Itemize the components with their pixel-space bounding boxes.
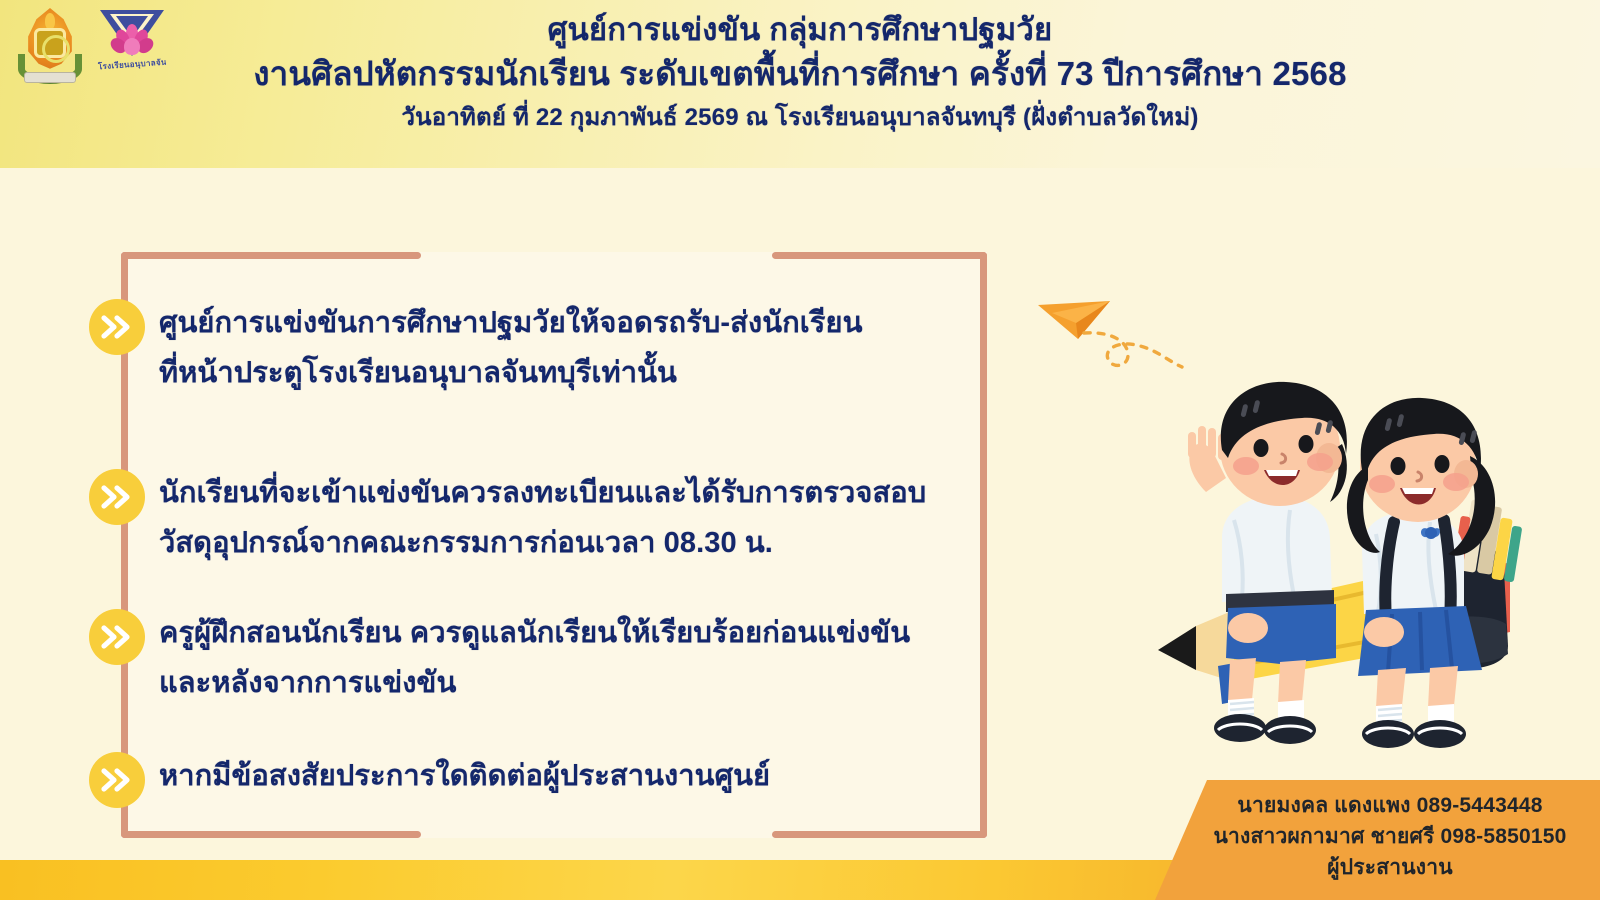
list-item: หากมีข้อสงสัยประการใดติดต่อผู้ประสานงานศ…: [89, 750, 969, 808]
page-title-line-2: งานศิลปหัตกรรมนักเรียน ระดับเขตพื้นที่กา…: [0, 50, 1600, 98]
list-item: นักเรียนที่จะเข้าแข่งขันควรลงทะเบียนและไ…: [89, 467, 969, 568]
paper-airplane-icon: [1032, 283, 1202, 383]
page-title-line-3: วันอาทิตย์ ที่ 22 กุมภาพันธ์ 2569 ณ โรงเ…: [0, 98, 1600, 138]
list-item: ครูผู้ฝึกสอนนักเรียน ควรดูแลนักเรียนให้เ…: [89, 607, 969, 708]
double-chevron-right-icon: [89, 609, 145, 665]
contact-coordinators-panel: นายมงคล แดงแพง 089-5443448 นางสาวผกามาศ …: [1155, 780, 1600, 900]
double-chevron-right-icon: [89, 469, 145, 525]
contact-role-label: ผู้ประสานงาน: [1155, 852, 1600, 883]
double-chevron-right-icon: [89, 752, 145, 808]
list-item-text: ครูผู้ฝึกสอนนักเรียน ควรดูแลนักเรียนให้เ…: [159, 607, 910, 708]
list-item-line-2: ที่หน้าประตูโรงเรียนอนุบาลจันทบุรีเท่านั…: [159, 348, 863, 398]
list-item-text: นักเรียนที่จะเข้าแข่งขันควรลงทะเบียนและไ…: [159, 467, 926, 568]
list-item-line-1: หากมีข้อสงสัยประการใดติดต่อผู้ประสานงานศ…: [159, 751, 770, 801]
list-item-text: หากมีข้อสงสัยประการใดติดต่อผู้ประสานงานศ…: [159, 750, 770, 801]
contact-line-2: นางสาวผกามาศ ชายศรี 098-5850150: [1155, 821, 1600, 852]
list-item-line-1: ครูผู้ฝึกสอนนักเรียน ควรดูแลนักเรียนให้เ…: [159, 608, 910, 658]
contact-line-1: นายมงคล แดงแพง 089-5443448: [1155, 790, 1600, 821]
two-students-riding-pencil-illustration: [1130, 370, 1560, 750]
poster-header: โรงเรียนอนุบาลจันทบุรี ศูนย์การแข่งขัน ก…: [0, 0, 1600, 168]
girl-student: [1347, 398, 1522, 748]
content-frame: ศูนย์การแข่งขันการศึกษาปฐมวัยให้จอดรถรับ…: [121, 252, 987, 838]
list-item-line-1: นักเรียนที่จะเข้าแข่งขันควรลงทะเบียนและไ…: [159, 468, 926, 518]
list-item-text: ศูนย์การแข่งขันการศึกษาปฐมวัยให้จอดรถรับ…: [159, 297, 863, 398]
bullet-list: ศูนย์การแข่งขันการศึกษาปฐมวัยให้จอดรถรับ…: [121, 252, 987, 838]
list-item: ศูนย์การแข่งขันการศึกษาปฐมวัยให้จอดรถรับ…: [89, 297, 969, 398]
list-item-line-2: และหลังจากการแข่งขัน: [159, 658, 910, 708]
double-chevron-right-icon: [89, 299, 145, 355]
poster-root: โรงเรียนอนุบาลจันทบุรี ศูนย์การแข่งขัน ก…: [0, 0, 1600, 900]
list-item-line-2: วัสดุอุปกรณ์จากคณะกรรมการก่อนเวลา 08.30 …: [159, 518, 926, 568]
header-titles: ศูนย์การแข่งขัน กลุ่มการศึกษาปฐมวัย งานศ…: [0, 10, 1600, 138]
boy-student: [1188, 382, 1347, 744]
list-item-line-1: ศูนย์การแข่งขันการศึกษาปฐมวัยให้จอดรถรับ…: [159, 298, 863, 348]
page-title-line-1: ศูนย์การแข่งขัน กลุ่มการศึกษาปฐมวัย: [0, 10, 1600, 50]
